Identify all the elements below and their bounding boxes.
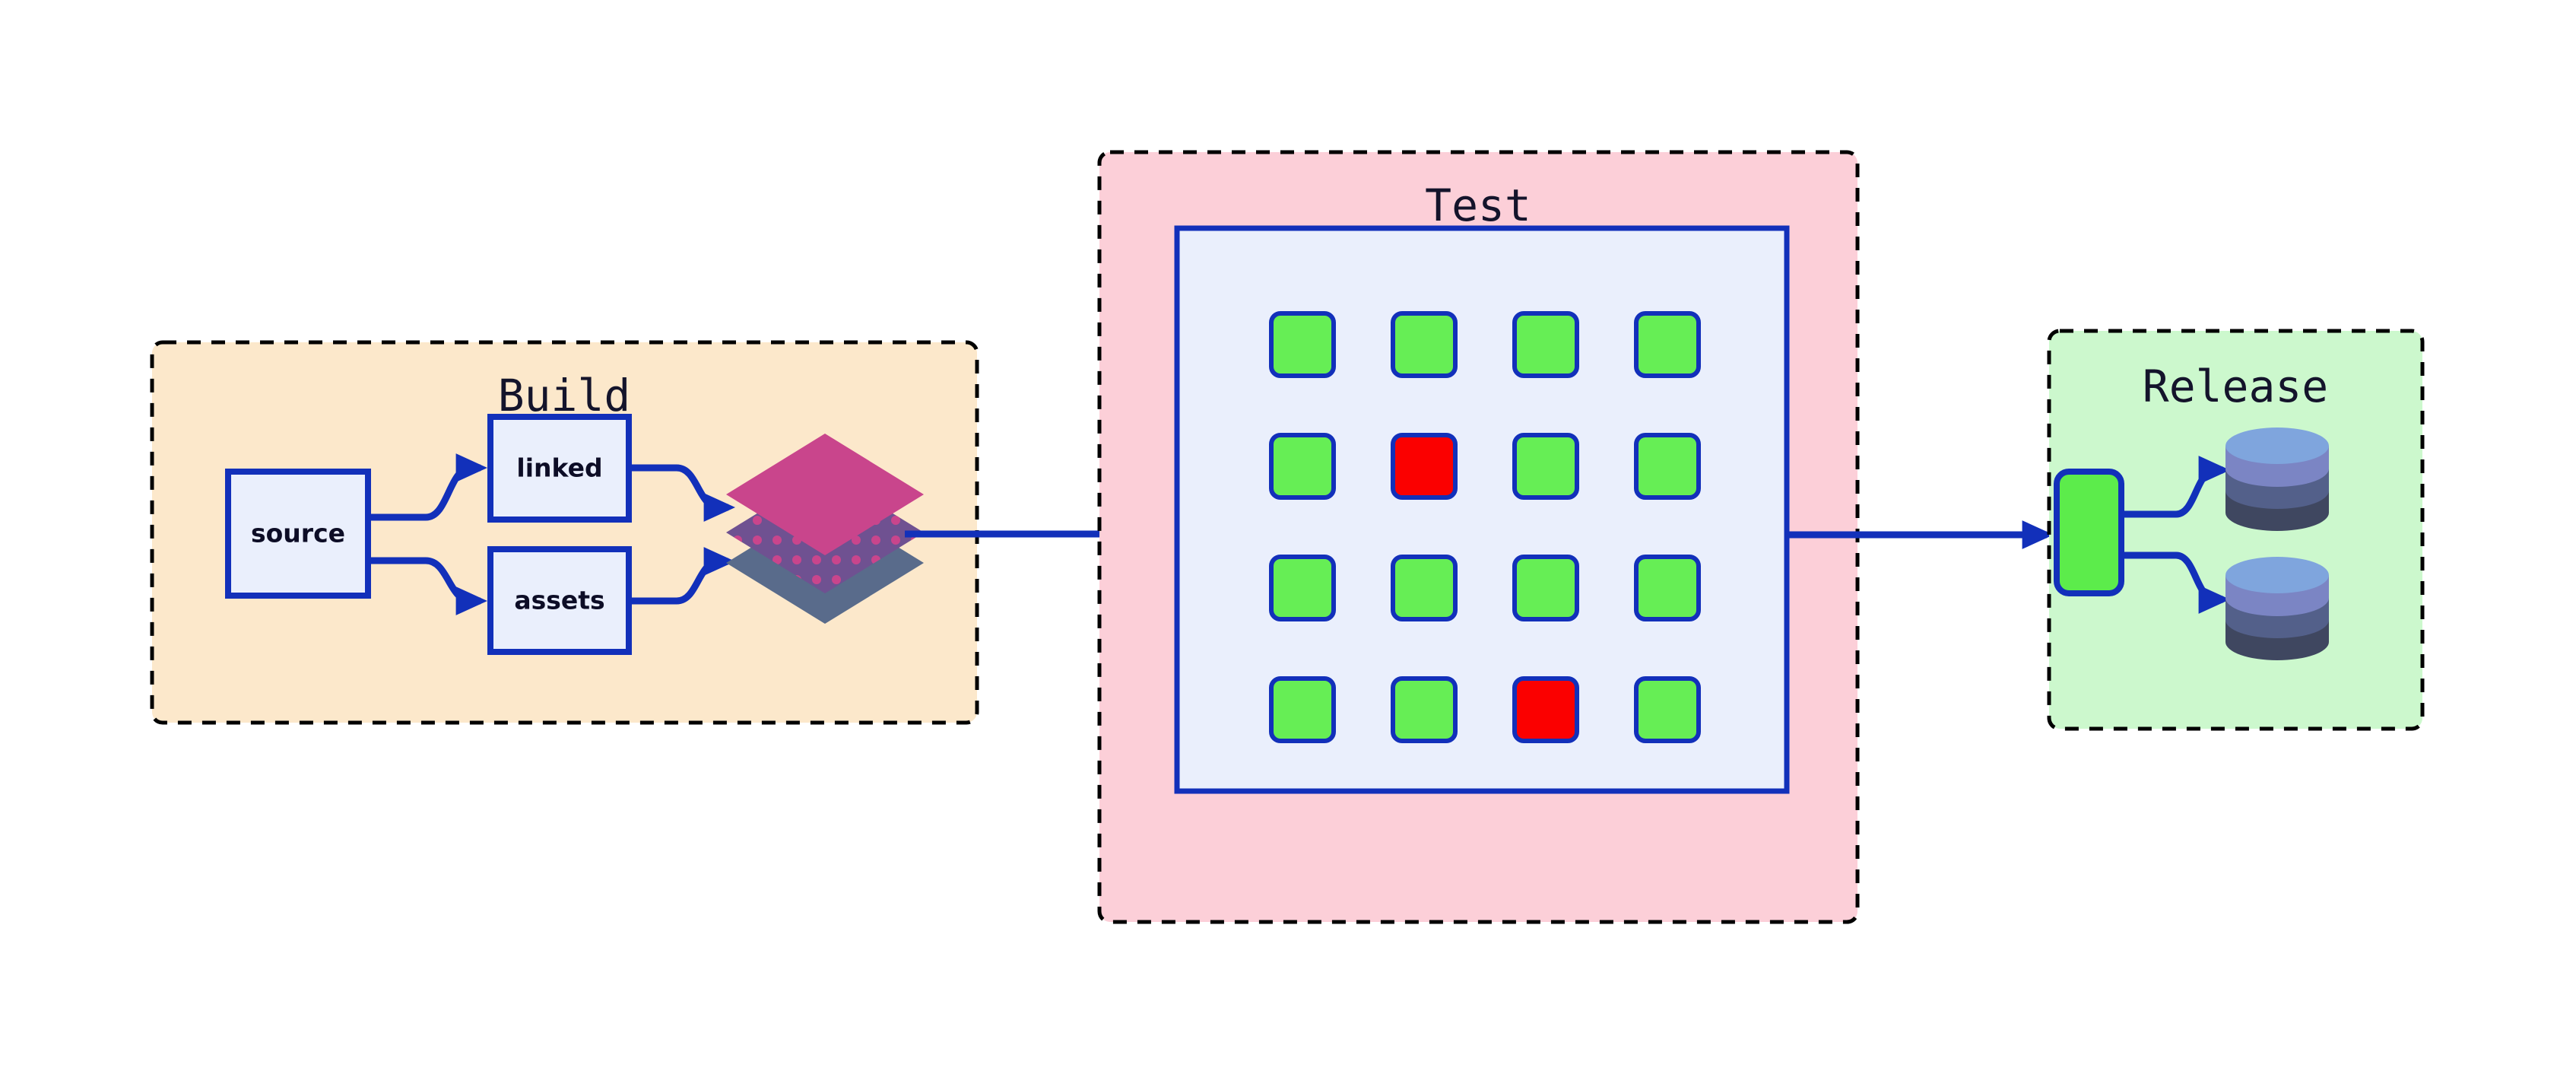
test-cell-r2c1[interactable]: [1271, 435, 1334, 497]
release-group-title: Release: [2143, 361, 2328, 412]
test-cell-r3c1[interactable]: [1271, 557, 1334, 619]
test-cell-r3c3[interactable]: [1515, 557, 1577, 619]
node-assets-label: assets: [514, 586, 604, 615]
group-release: Release: [2049, 331, 2422, 729]
test-cell-r2c3[interactable]: [1515, 435, 1577, 497]
database-icon-bottom[interactable]: [2225, 557, 2329, 660]
test-cell-r1c4[interactable]: [1636, 313, 1699, 376]
database-icon-top[interactable]: [2225, 428, 2329, 531]
db-top-lid: [2225, 428, 2329, 464]
test-cell-r4c3[interactable]: [1515, 679, 1577, 741]
group-build: Build source linked assets: [152, 342, 977, 723]
test-cell-r4c4[interactable]: [1636, 679, 1699, 741]
pipeline-diagram: Build source linked assets: [0, 0, 2576, 1068]
test-cell-r1c2[interactable]: [1393, 313, 1455, 376]
test-cell-r1c3[interactable]: [1515, 313, 1577, 376]
test-group-title: Test: [1425, 180, 1531, 231]
db-bottom-lid: [2225, 557, 2329, 593]
test-cell-r4c1[interactable]: [1271, 679, 1334, 741]
node-linked-label: linked: [516, 453, 602, 483]
test-cell-r4c2[interactable]: [1393, 679, 1455, 741]
test-cell-r2c2[interactable]: [1393, 435, 1455, 497]
node-assets[interactable]: assets: [490, 549, 629, 652]
release-bar[interactable]: [2057, 472, 2121, 593]
build-group-title: Build: [498, 370, 631, 421]
test-cell-r3c4[interactable]: [1636, 557, 1699, 619]
test-cell-r1c1[interactable]: [1271, 313, 1334, 376]
diagram-canvas: Build source linked assets: [0, 0, 2576, 1068]
node-source-label: source: [251, 519, 345, 548]
node-linked[interactable]: linked: [490, 417, 629, 520]
test-cell-r3c2[interactable]: [1393, 557, 1455, 619]
node-source[interactable]: source: [228, 472, 368, 596]
test-cell-r2c4[interactable]: [1636, 435, 1699, 497]
group-test: Test: [1099, 152, 1857, 922]
